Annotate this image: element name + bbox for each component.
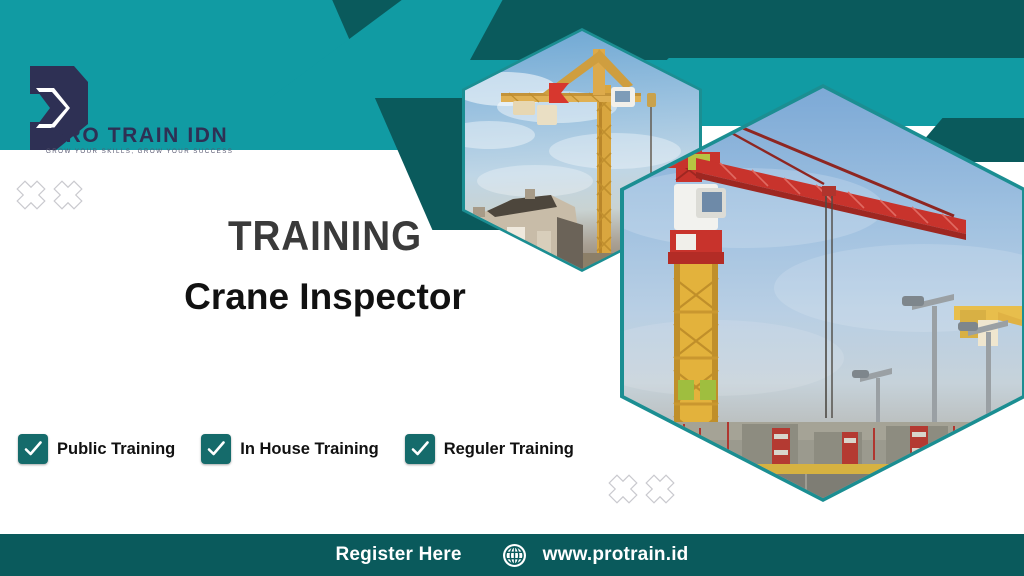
brand-logo: PRO TRAIN IDN GROW YOUR SKILLS, GROW YOU… <box>16 62 226 167</box>
decor-cross-group-lower <box>608 474 675 504</box>
check-icon <box>23 439 43 459</box>
training-promo-banner: PRO TRAIN IDN GROW YOUR SKILLS, GROW YOU… <box>0 0 1024 576</box>
decor-cross-group-left <box>16 180 83 210</box>
cross-x-icon <box>608 474 638 504</box>
option-reguler-training[interactable]: Reguler Training <box>405 434 574 464</box>
option-label: Reguler Training <box>444 440 574 459</box>
option-label: In House Training <box>240 440 378 459</box>
brand-tagline: GROW YOUR SKILLS, GROW YOUR SUCCESS <box>46 148 233 155</box>
check-icon <box>410 439 430 459</box>
brand-name: PRO TRAIN IDN <box>50 124 228 148</box>
checkbox-checked[interactable] <box>201 434 231 464</box>
option-label: Public Training <box>57 440 175 459</box>
option-public-training[interactable]: Public Training <box>18 434 175 464</box>
checkbox-checked[interactable] <box>405 434 435 464</box>
cross-x-icon <box>16 180 46 210</box>
register-here-label: Register Here <box>335 544 461 566</box>
cross-x-icon <box>645 474 675 504</box>
check-icon <box>206 439 226 459</box>
footer-register-bar: Register Here www.protrain.id <box>0 534 1024 576</box>
training-type-options: Public Training In House Training Regule… <box>18 434 600 464</box>
cross-x-icon <box>53 180 83 210</box>
globe-icon <box>502 543 527 568</box>
page-title: Crane Inspector <box>0 276 650 318</box>
option-in-house-training[interactable]: In House Training <box>201 434 378 464</box>
checkbox-checked[interactable] <box>18 434 48 464</box>
website-url-link[interactable]: www.protrain.id <box>543 544 689 566</box>
